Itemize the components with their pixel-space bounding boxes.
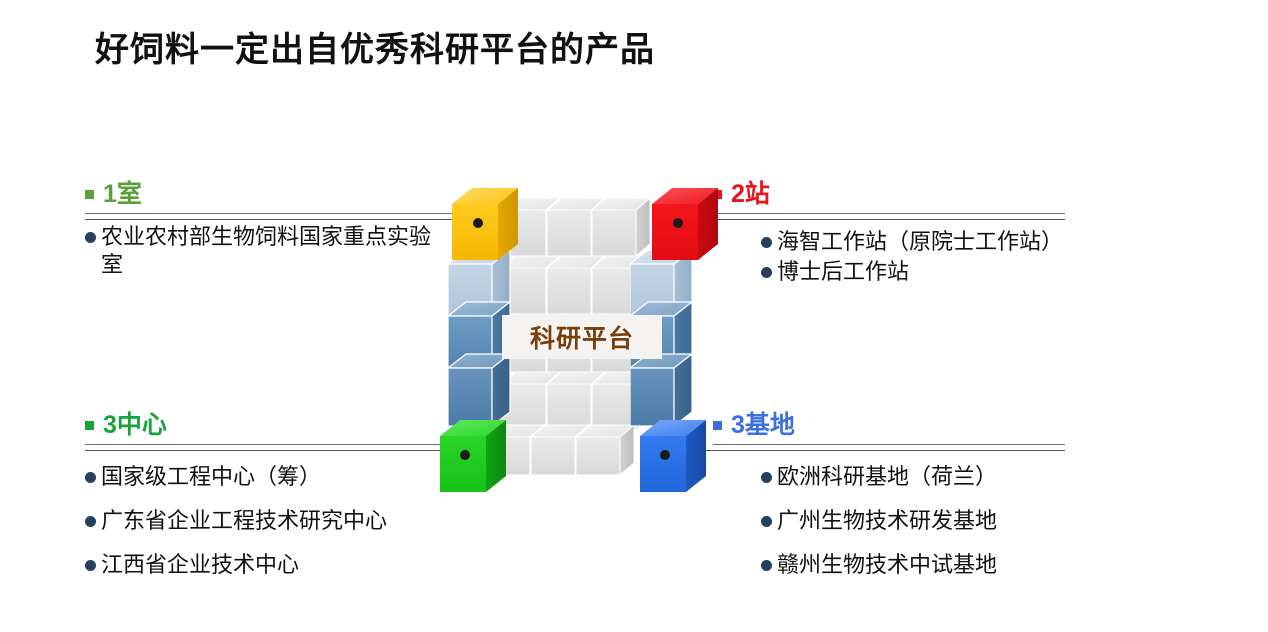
list-item-label: 海智工作站（原院士工作站） [777, 228, 1063, 256]
quadrant-lab-list: 农业农村部生物饲料国家重点实验室 [85, 223, 445, 279]
round-bullet-icon [85, 472, 96, 483]
quadrant-base: 3基地 欧洲科研基地（荷兰） 广州生物技术研发基地 赣州生物技术中试基地 [713, 413, 1113, 595]
quadrant-base-header: 3基地 [713, 413, 1113, 438]
page-title: 好饲料一定出自优秀科研平台的产品 [95, 22, 655, 71]
list-item-label: 广州生物技术研发基地 [777, 507, 997, 535]
quadrant-center-list: 国家级工程中心（筹） 广东省企业工程技术研究中心 江西省企业技术中心 [85, 463, 485, 579]
list-item: 江西省企业技术中心 [85, 551, 485, 579]
quadrant-station-header: 2站 [713, 182, 1113, 207]
divider-line [713, 213, 1065, 214]
list-item: 农业农村部生物饲料国家重点实验室 [85, 223, 445, 279]
quadrant-base-title: 3基地 [731, 413, 795, 438]
list-item: 海智工作站（原院士工作站） [761, 228, 1113, 256]
list-item-label: 江西省企业技术中心 [101, 551, 299, 579]
list-item: 广州生物技术研发基地 [761, 507, 1113, 535]
divider-line [713, 444, 1065, 445]
square-bullet-icon [85, 190, 94, 199]
blue-node-dot-icon [660, 450, 670, 460]
round-bullet-icon [761, 267, 772, 278]
round-bullet-icon [761, 237, 772, 248]
green-cube-icon [440, 420, 520, 500]
round-bullet-icon [761, 472, 772, 483]
list-item: 欧洲科研基地（荷兰） [761, 463, 1113, 491]
yellow-cube-icon [452, 188, 532, 268]
quadrant-station-list: 海智工作站（原院士工作站） 博士后工作站 [761, 228, 1113, 286]
quadrant-center-title: 3中心 [103, 413, 167, 438]
divider-line [85, 444, 450, 445]
red-cube-icon [652, 188, 732, 268]
square-bullet-icon [85, 421, 94, 430]
quadrant-lab: 1室 农业农村部生物饲料国家重点实验室 [85, 182, 445, 279]
list-item-label: 国家级工程中心（筹） [101, 463, 321, 491]
yellow-node-dot-icon [473, 218, 483, 228]
round-bullet-icon [761, 560, 772, 571]
round-bullet-icon [85, 560, 96, 571]
center-platform-label: 科研平台 [502, 315, 662, 359]
list-item-label: 赣州生物技术中试基地 [777, 551, 997, 579]
list-item-label: 广东省企业工程技术研究中心 [101, 507, 387, 535]
round-bullet-icon [761, 516, 772, 527]
research-platform-cube-diagram: 科研平台 [440, 180, 740, 490]
list-item-label: 欧洲科研基地（荷兰） [777, 463, 997, 491]
quadrant-station: 2站 海智工作站（原院士工作站） 博士后工作站 [713, 182, 1113, 288]
blue-cube-icon [640, 420, 720, 500]
list-item: 博士后工作站 [761, 258, 1113, 286]
list-item-label: 农业农村部生物饲料国家重点实验室 [101, 223, 445, 279]
list-item: 广东省企业工程技术研究中心 [85, 507, 485, 535]
green-node-dot-icon [460, 450, 470, 460]
quadrant-lab-header: 1室 [85, 182, 445, 207]
round-bullet-icon [85, 516, 96, 527]
quadrant-base-list: 欧洲科研基地（荷兰） 广州生物技术研发基地 赣州生物技术中试基地 [761, 463, 1113, 579]
quadrant-center-header: 3中心 [85, 413, 485, 438]
list-item: 赣州生物技术中试基地 [761, 551, 1113, 579]
quadrant-lab-title: 1室 [103, 182, 142, 207]
quadrant-center: 3中心 国家级工程中心（筹） 广东省企业工程技术研究中心 江西省企业技术中心 [85, 413, 485, 595]
divider-line [85, 213, 465, 214]
red-node-dot-icon [673, 218, 683, 228]
list-item: 国家级工程中心（筹） [85, 463, 485, 491]
list-item-label: 博士后工作站 [777, 258, 909, 286]
round-bullet-icon [85, 232, 96, 243]
